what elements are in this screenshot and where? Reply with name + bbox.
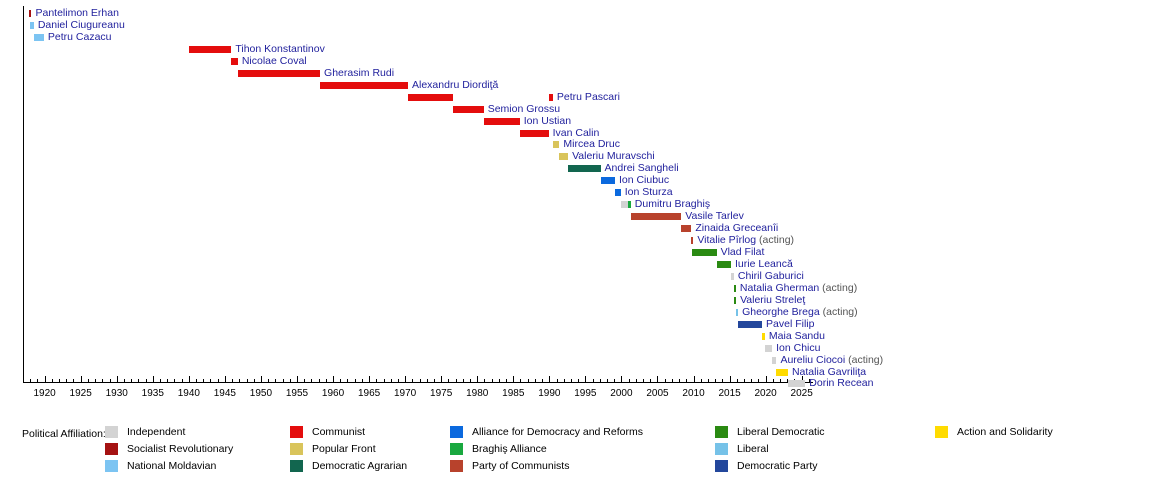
legend-swatch xyxy=(290,426,303,438)
timeline-row[interactable]: Pavel Filip xyxy=(0,319,1150,330)
person-name: Aureliu Ciocoi xyxy=(780,354,845,366)
person-name: Gherasim Rudi xyxy=(324,67,394,79)
timeline-bar-segment[interactable] xyxy=(734,285,736,292)
x-tick-label: 1940 xyxy=(169,388,209,400)
legend-swatch xyxy=(450,460,463,472)
timeline-row-label: Aureliu Ciocoi (acting) xyxy=(780,354,883,366)
person-name: Natalia Gavriliţa xyxy=(792,366,866,378)
person-name: Vitalie Pîrlog xyxy=(697,234,756,246)
x-tick-label: 1980 xyxy=(457,388,497,400)
timeline-row-label: Natalia Gherman (acting) xyxy=(740,282,857,294)
timeline-row-label: Chiril Gaburici xyxy=(738,270,804,282)
timeline-row-label: Mircea Druc xyxy=(563,138,620,150)
timeline-bar-segment[interactable] xyxy=(762,333,765,340)
timeline-bar-segment[interactable] xyxy=(231,58,237,65)
timeline-bar-segment[interactable] xyxy=(553,141,559,148)
timeline-row[interactable]: Ion Chicu xyxy=(0,343,1150,354)
x-tick-label: 1920 xyxy=(25,388,65,400)
person-name: Chiril Gaburici xyxy=(738,270,804,282)
person-name: Pantelimon Erhan xyxy=(35,7,118,19)
timeline-row-label: Semion Grossu xyxy=(488,103,560,115)
person-name: Semion Grossu xyxy=(488,103,560,115)
x-tick-label: 2020 xyxy=(746,388,786,400)
timeline-row-label: Pavel Filip xyxy=(766,318,814,330)
x-tick-label: 2010 xyxy=(674,388,714,400)
x-tick-label: 2000 xyxy=(601,388,641,400)
person-name: Pavel Filip xyxy=(766,318,814,330)
x-tick-label: 2005 xyxy=(637,388,677,400)
timeline-row[interactable]: Vlad Filat xyxy=(0,247,1150,258)
timeline-row[interactable]: Valeriu Muravschi xyxy=(0,151,1150,162)
person-name: Alexandru Diordiţă xyxy=(412,79,498,91)
acting-annotation: (acting) xyxy=(820,306,858,318)
legend-title: Political Affiliation: xyxy=(22,428,106,440)
timeline-row[interactable]: Natalia Gherman (acting) xyxy=(0,283,1150,294)
timeline-bar-segment[interactable] xyxy=(408,94,453,101)
timeline-bar-segment[interactable] xyxy=(601,177,615,184)
x-tick-label: 1960 xyxy=(313,388,353,400)
x-tick-label: 2015 xyxy=(710,388,750,400)
timeline-row-label: Maia Sandu xyxy=(769,330,825,342)
legend-swatch xyxy=(290,460,303,472)
timeline-bar-segment[interactable] xyxy=(681,225,691,232)
person-name: Dumitru Braghiş xyxy=(635,198,710,210)
acting-annotation: (acting) xyxy=(819,282,857,294)
timeline-row[interactable]: Semion Grossu xyxy=(0,104,1150,115)
timeline-bar-segment[interactable] xyxy=(615,189,621,196)
x-tick-label: 1935 xyxy=(133,388,173,400)
x-tick-label: 1985 xyxy=(493,388,533,400)
timeline-row[interactable]: Vitalie Pîrlog (acting) xyxy=(0,235,1150,246)
timeline-row-label: Petru Pascari xyxy=(557,91,620,103)
legend-label: Socialist Revolutionary xyxy=(127,441,233,457)
legend-swatch xyxy=(105,426,118,438)
x-tick-label: 1995 xyxy=(565,388,605,400)
timeline-row[interactable]: Dumitru Braghiş xyxy=(0,199,1150,210)
timeline-row-label: Ivan Calin xyxy=(553,127,600,139)
timeline-row[interactable]: Petru Cazacu xyxy=(0,32,1150,43)
x-tick-label: 2025 xyxy=(782,388,822,400)
timeline-row-label: Ion Sturza xyxy=(625,186,673,198)
legend-label: Party of Communists xyxy=(472,458,569,474)
person-name: Tihon Konstantinov xyxy=(235,43,325,55)
timeline-row[interactable]: Andrei Sangheli xyxy=(0,163,1150,174)
timeline-bar-segment[interactable] xyxy=(717,261,731,268)
legend-label: Action and Solidarity xyxy=(957,424,1053,440)
timeline-row[interactable]: Vasile Tarlev xyxy=(0,211,1150,222)
person-name: Ivan Calin xyxy=(553,127,600,139)
timeline-row[interactable]: Dorin Recean xyxy=(0,378,1150,389)
timeline-row-label: Gheorghe Brega (acting) xyxy=(742,306,858,318)
acting-annotation: (acting) xyxy=(756,234,794,246)
x-tick-label: 1950 xyxy=(241,388,281,400)
timeline-bar-segment[interactable] xyxy=(453,106,484,113)
timeline-row-label: Valeriu Muravschi xyxy=(572,150,655,162)
timeline-row-label: Iurie Leancă xyxy=(735,258,793,270)
legend-label: National Moldavian xyxy=(127,458,216,474)
person-name: Maia Sandu xyxy=(769,330,825,342)
plot-area: 1920192519301935194019451950195519601965… xyxy=(0,0,1150,400)
timeline-bar-segment[interactable] xyxy=(34,34,44,41)
acting-annotation: (acting) xyxy=(845,354,883,366)
timeline-row[interactable]: Tihon Konstantinov xyxy=(0,44,1150,55)
timeline-row-label: Ion Chicu xyxy=(776,342,820,354)
timeline-row-label: Dumitru Braghiş xyxy=(635,198,710,210)
timeline-row[interactable]: Aureliu Ciocoi (acting) xyxy=(0,355,1150,366)
person-name: Ion Ciubuc xyxy=(619,174,669,186)
timeline-bar-segment[interactable] xyxy=(520,130,549,137)
timeline-bar-segment[interactable] xyxy=(568,165,600,172)
timeline-bar-segment[interactable] xyxy=(776,369,788,376)
timeline-row[interactable]: Valeriu Streleţ xyxy=(0,295,1150,306)
timeline-bar-segment[interactable] xyxy=(621,201,628,208)
timeline-row[interactable]: Gherasim Rudi xyxy=(0,68,1150,79)
legend-label: Liberal Democratic xyxy=(737,424,825,440)
timeline-bar-segment[interactable] xyxy=(692,249,717,256)
timeline-bar-segment[interactable] xyxy=(765,345,772,352)
legend-label: Alliance for Democracy and Reforms xyxy=(472,424,643,440)
person-name: Petru Cazacu xyxy=(48,31,112,43)
legend-swatch xyxy=(715,426,728,438)
timeline-row[interactable]: Iurie Leancă xyxy=(0,259,1150,270)
person-name: Zinaida Greceanîi xyxy=(695,222,778,234)
legend-label: Democratic Party xyxy=(737,458,818,474)
timeline-bar-segment[interactable] xyxy=(734,297,736,304)
timeline-bar-segment[interactable] xyxy=(731,273,734,280)
person-name: Ion Ustian xyxy=(524,115,571,127)
prime-ministers-timeline-chart: 1920192519301935194019451950195519601965… xyxy=(0,0,1150,482)
timeline-bar-segment[interactable] xyxy=(691,237,693,244)
legend-label: Independent xyxy=(127,424,185,440)
person-name: Dorin Recean xyxy=(809,377,873,389)
timeline-row-label: Andrei Sangheli xyxy=(605,162,679,174)
timeline-row[interactable]: Petru Pascari xyxy=(0,92,1150,103)
timeline-row[interactable]: Natalia Gavriliţa xyxy=(0,367,1150,378)
timeline-row-label: Natalia Gavriliţa xyxy=(792,366,866,378)
timeline-bar-segment[interactable] xyxy=(30,22,34,29)
timeline-row[interactable]: Ivan Calin xyxy=(0,128,1150,139)
legend-swatch xyxy=(935,426,948,438)
timeline-row-label: Ion Ciubuc xyxy=(619,174,669,186)
timeline-row[interactable]: Zinaida Greceanîi xyxy=(0,223,1150,234)
timeline-row-label: Zinaida Greceanîi xyxy=(695,222,778,234)
timeline-row[interactable]: Maia Sandu xyxy=(0,331,1150,342)
person-name: Vlad Filat xyxy=(721,246,765,258)
legend: Political Affiliation: IndependentSocial… xyxy=(0,418,1150,482)
timeline-row-label: Tihon Konstantinov xyxy=(235,43,325,55)
timeline-row-label: Vasile Tarlev xyxy=(685,210,744,222)
person-name: Mircea Druc xyxy=(563,138,620,150)
timeline-bar-segment[interactable] xyxy=(736,309,738,316)
x-tick-label: 1955 xyxy=(277,388,317,400)
timeline-bar-segment[interactable] xyxy=(631,213,681,220)
timeline-row[interactable]: Gheorghe Brega (acting) xyxy=(0,307,1150,318)
person-name: Nicolae Coval xyxy=(242,55,307,67)
timeline-row[interactable]: Daniel Ciugureanu xyxy=(0,20,1150,31)
timeline-bar-segment[interactable] xyxy=(29,10,31,17)
legend-label: Popular Front xyxy=(312,441,376,457)
person-name: Valeriu Streleţ xyxy=(740,294,805,306)
timeline-bar-segment[interactable] xyxy=(738,321,763,328)
legend-label: Liberal xyxy=(737,441,769,457)
person-name: Iurie Leancă xyxy=(735,258,793,270)
legend-label: Braghiş Alliance xyxy=(472,441,547,457)
timeline-row-label: Valeriu Streleţ xyxy=(740,294,805,306)
person-name: Daniel Ciugureanu xyxy=(38,19,125,31)
legend-swatch xyxy=(715,443,728,455)
legend-label: Communist xyxy=(312,424,365,440)
person-name: Natalia Gherman xyxy=(740,282,819,294)
timeline-row[interactable]: Alexandru Diordiţă xyxy=(0,80,1150,91)
x-tick-label: 1930 xyxy=(97,388,137,400)
timeline-row-label: Nicolae Coval xyxy=(242,55,307,67)
timeline-bar-segment[interactable] xyxy=(320,82,408,89)
timeline-row-label: Vlad Filat xyxy=(721,246,765,258)
legend-swatch xyxy=(105,443,118,455)
timeline-row-label: Alexandru Diordiţă xyxy=(412,79,498,91)
timeline-bar-segment[interactable] xyxy=(484,118,520,125)
person-name: Ion Chicu xyxy=(776,342,820,354)
timeline-row[interactable]: Pantelimon Erhan xyxy=(0,8,1150,19)
timeline-bar-segment[interactable] xyxy=(772,357,776,364)
x-tick-label: 1975 xyxy=(421,388,461,400)
timeline-row[interactable]: Ion Sturza xyxy=(0,187,1150,198)
timeline-bar-segment[interactable] xyxy=(549,94,553,101)
timeline-bar-segment[interactable] xyxy=(189,46,232,53)
legend-swatch xyxy=(450,426,463,438)
legend-swatch xyxy=(715,460,728,472)
person-name: Petru Pascari xyxy=(557,91,620,103)
timeline-row[interactable]: Nicolae Coval xyxy=(0,56,1150,67)
timeline-row[interactable]: Chiril Gaburici xyxy=(0,271,1150,282)
x-tick-label: 1965 xyxy=(349,388,389,400)
person-name: Gheorghe Brega xyxy=(742,306,820,318)
timeline-bar-segment[interactable] xyxy=(238,70,320,77)
x-tick-label: 1925 xyxy=(61,388,101,400)
timeline-row-label: Dorin Recean xyxy=(809,377,873,389)
timeline-row-label: Ion Ustian xyxy=(524,115,571,127)
x-tick-label: 1945 xyxy=(205,388,245,400)
timeline-bar-segment[interactable] xyxy=(628,201,631,208)
timeline-row-label: Vitalie Pîrlog (acting) xyxy=(697,234,794,246)
legend-swatch xyxy=(290,443,303,455)
legend-swatch xyxy=(105,460,118,472)
timeline-row[interactable]: Ion Ciubuc xyxy=(0,175,1150,186)
legend-label: Democratic Agrarian xyxy=(312,458,407,474)
timeline-row[interactable]: Ion Ustian xyxy=(0,116,1150,127)
timeline-row[interactable]: Mircea Druc xyxy=(0,139,1150,150)
legend-swatch xyxy=(450,443,463,455)
person-name: Valeriu Muravschi xyxy=(572,150,655,162)
x-tick-label: 1970 xyxy=(385,388,425,400)
x-tick-label: 1990 xyxy=(529,388,569,400)
timeline-row-label: Daniel Ciugureanu xyxy=(38,19,125,31)
timeline-row-label: Gherasim Rudi xyxy=(324,67,394,79)
timeline-bar-segment[interactable] xyxy=(788,380,805,387)
timeline-bar-segment[interactable] xyxy=(559,153,568,160)
person-name: Andrei Sangheli xyxy=(605,162,679,174)
timeline-row-label: Pantelimon Erhan xyxy=(35,7,118,19)
person-name: Vasile Tarlev xyxy=(685,210,744,222)
person-name: Ion Sturza xyxy=(625,186,673,198)
timeline-row-label: Petru Cazacu xyxy=(48,31,112,43)
